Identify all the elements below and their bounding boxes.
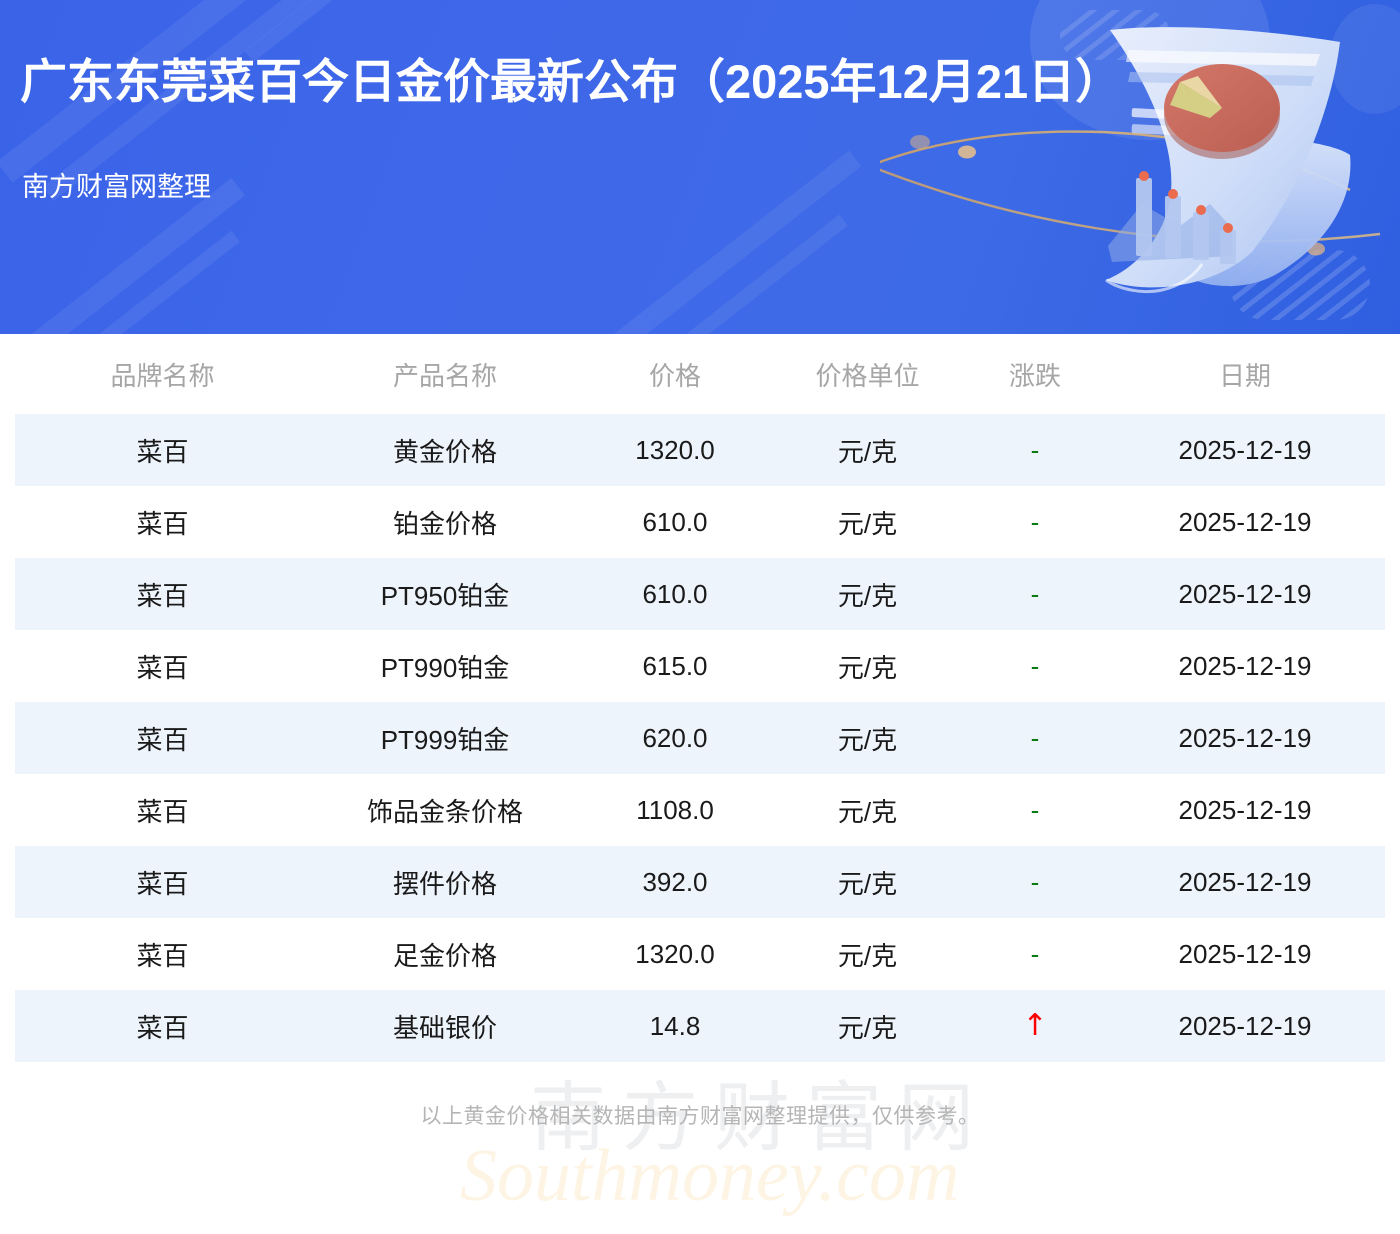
flat-dash-icon: - [1031, 939, 1040, 969]
cell-unit: 元/克 [770, 486, 965, 558]
flat-dash-icon: - [1031, 795, 1040, 825]
cell-price: 620.0 [580, 702, 770, 774]
cell-unit: 元/克 [770, 414, 965, 486]
table-row: 菜百PT950铂金610.0元/克-2025-12-19 [15, 558, 1385, 630]
cell-date: 2025-12-19 [1105, 774, 1385, 846]
cell-unit: 元/克 [770, 918, 965, 990]
cell-product: PT990铂金 [310, 630, 580, 702]
cell-change: - [965, 486, 1105, 558]
cell-unit: 元/克 [770, 558, 965, 630]
column-header-product: 产品名称 [310, 334, 580, 414]
gold-price-table: 品牌名称 产品名称 价格 价格单位 涨跌 日期 菜百黄金价格1320.0元/克-… [15, 334, 1385, 1062]
flat-dash-icon: - [1031, 507, 1040, 537]
cell-brand: 菜百 [15, 558, 310, 630]
flat-dash-icon: - [1031, 723, 1040, 753]
table-header-row: 品牌名称 产品名称 价格 价格单位 涨跌 日期 [15, 334, 1385, 414]
cell-brand: 菜百 [15, 774, 310, 846]
cell-product: 饰品金条价格 [310, 774, 580, 846]
table-disclaimer: 以上黄金价格相关数据由南方财富网整理提供，仅供参考。 [0, 1100, 1400, 1130]
cell-date: 2025-12-19 [1105, 486, 1385, 558]
page-subtitle: 南方财富网整理 [22, 165, 211, 204]
cell-change: - [965, 846, 1105, 918]
cell-unit: 元/克 [770, 702, 965, 774]
banner-stripe-decoration [50, 231, 240, 334]
table-row: 菜百铂金价格610.0元/克-2025-12-19 [15, 486, 1385, 558]
cell-date: 2025-12-19 [1105, 846, 1385, 918]
cell-change: - [965, 702, 1105, 774]
banner-stripe-decoration [589, 151, 861, 334]
cell-change: - [965, 918, 1105, 990]
banner-stripe-decoration [245, 0, 395, 62]
cell-price: 615.0 [580, 630, 770, 702]
banner-circle-decoration [1330, 4, 1400, 114]
table-body: 菜百黄金价格1320.0元/克-2025-12-19菜百铂金价格610.0元/克… [15, 414, 1385, 1062]
watermark-english: Southmoney.com [460, 1134, 959, 1219]
cell-date: 2025-12-19 [1105, 990, 1385, 1062]
column-header-change: 涨跌 [965, 334, 1105, 414]
table-row: 菜百基础银价14.8元/克↑2025-12-19 [15, 990, 1385, 1062]
cell-date: 2025-12-19 [1105, 702, 1385, 774]
cell-price: 1108.0 [580, 774, 770, 846]
cell-change: - [965, 630, 1105, 702]
table-head: 品牌名称 产品名称 价格 价格单位 涨跌 日期 [15, 334, 1385, 414]
cell-product: 足金价格 [310, 918, 580, 990]
column-header-price: 价格 [580, 334, 770, 414]
cell-price: 610.0 [580, 486, 770, 558]
cell-price: 392.0 [580, 846, 770, 918]
banner-stripe-decoration [642, 215, 848, 334]
flat-dash-icon: - [1031, 651, 1040, 681]
cell-brand: 菜百 [15, 702, 310, 774]
cell-product: 基础银价 [310, 990, 580, 1062]
cell-change: ↑ [965, 990, 1105, 1062]
page-title: 广东东莞菜百今日金价最新公布（2025年12月21日） [20, 56, 1122, 108]
flat-dash-icon: - [1031, 435, 1040, 465]
cell-price: 1320.0 [580, 918, 770, 990]
cell-date: 2025-12-19 [1105, 558, 1385, 630]
cell-product: PT999铂金 [310, 702, 580, 774]
cell-date: 2025-12-19 [1105, 414, 1385, 486]
watermark: 南方财富网 Southmoney.com [150, 1034, 1150, 1234]
column-header-unit: 价格单位 [770, 334, 965, 414]
arrow-up-icon: ↑ [1022, 1008, 1047, 1043]
page-banner: 广东东莞菜百今日金价最新公布（2025年12月21日） 南方财富网整理 [0, 0, 1400, 334]
cell-brand: 菜百 [15, 486, 310, 558]
cell-brand: 菜百 [15, 846, 310, 918]
banner-hatch-decoration [1060, 10, 1170, 60]
table-row: 菜百PT999铂金620.0元/克-2025-12-19 [15, 702, 1385, 774]
cell-price: 1320.0 [580, 414, 770, 486]
cell-change: - [965, 774, 1105, 846]
table-row: 菜百PT990铂金615.0元/克-2025-12-19 [15, 630, 1385, 702]
column-header-date: 日期 [1105, 334, 1385, 414]
cell-change: - [965, 558, 1105, 630]
report-illustration [880, 0, 1400, 334]
column-header-brand: 品牌名称 [15, 334, 310, 414]
cell-brand: 菜百 [15, 414, 310, 486]
cell-brand: 菜百 [15, 630, 310, 702]
cell-brand: 菜百 [15, 918, 310, 990]
cell-unit: 元/克 [770, 990, 965, 1062]
cell-product: 铂金价格 [310, 486, 580, 558]
price-table-section: 南方财富网 Southmoney.com 品牌名称 产品名称 价格 价格单位 涨… [0, 334, 1400, 1130]
cell-date: 2025-12-19 [1105, 630, 1385, 702]
table-row: 菜百饰品金条价格1108.0元/克-2025-12-19 [15, 774, 1385, 846]
cell-product: 黄金价格 [310, 414, 580, 486]
cell-price: 610.0 [580, 558, 770, 630]
table-row: 菜百黄金价格1320.0元/克-2025-12-19 [15, 414, 1385, 486]
banner-hatch-decoration [1230, 250, 1370, 320]
cell-product: PT950铂金 [310, 558, 580, 630]
table-row: 菜百摆件价格392.0元/克-2025-12-19 [15, 846, 1385, 918]
cell-unit: 元/克 [770, 774, 965, 846]
flat-dash-icon: - [1031, 867, 1040, 897]
cell-brand: 菜百 [15, 990, 310, 1062]
cell-product: 摆件价格 [310, 846, 580, 918]
flat-dash-icon: - [1031, 579, 1040, 609]
cell-date: 2025-12-19 [1105, 918, 1385, 990]
cell-unit: 元/克 [770, 630, 965, 702]
cell-unit: 元/克 [770, 846, 965, 918]
table-row: 菜百足金价格1320.0元/克-2025-12-19 [15, 918, 1385, 990]
cell-change: - [965, 414, 1105, 486]
cell-price: 14.8 [580, 990, 770, 1062]
